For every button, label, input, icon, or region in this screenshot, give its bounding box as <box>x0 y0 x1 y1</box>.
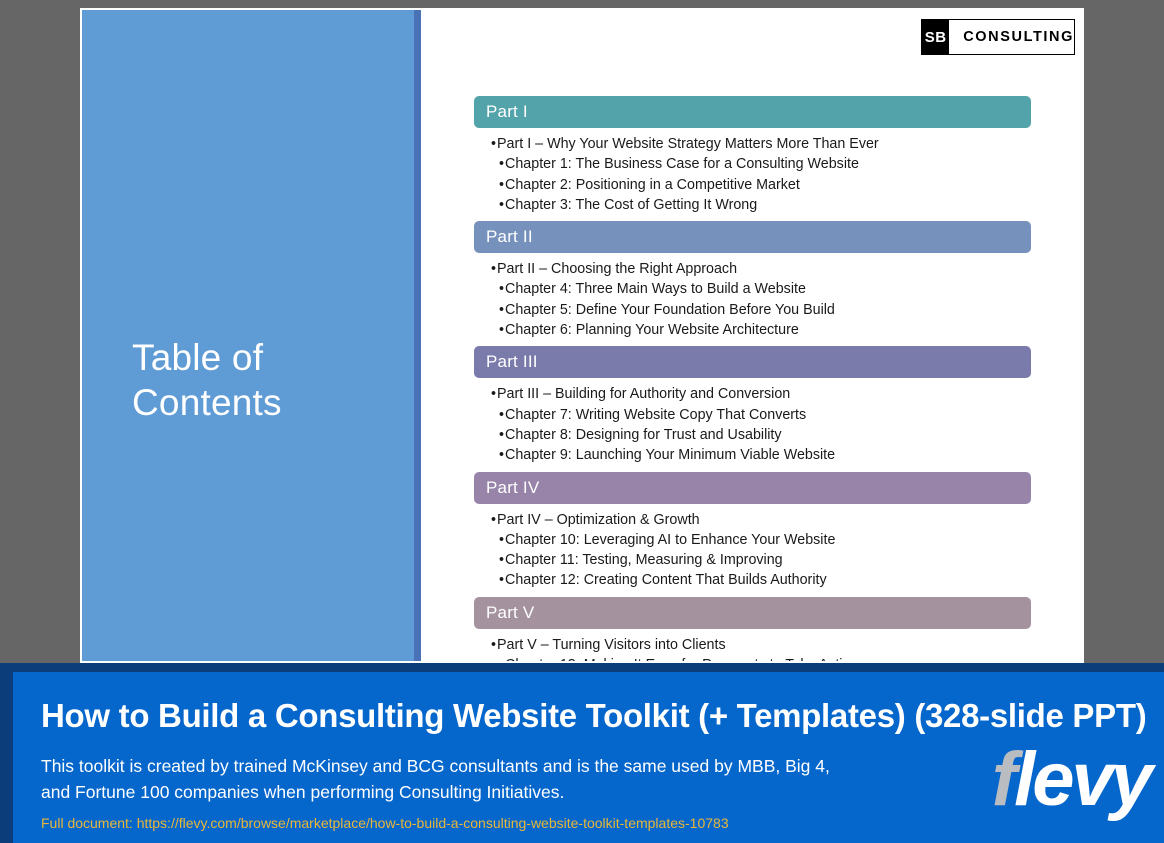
toc-part-header-label: Part IV <box>486 478 539 498</box>
bullet-icon: • <box>499 550 504 570</box>
toc-part-items: •Part V – Turning Visitors into Clients•… <box>474 629 1031 663</box>
flevy-promo-banner: How to Build a Consulting Website Toolki… <box>0 663 1164 843</box>
toc-entry[interactable]: •Chapter 2: Positioning in a Competitive… <box>474 175 1031 195</box>
toc-entry[interactable]: •Chapter 5: Define Your Foundation Befor… <box>474 300 1031 320</box>
toc-entry[interactable]: •Part IV – Optimization & Growth <box>474 510 1031 530</box>
toc-entry-label: Chapter 4: Three Main Ways to Build a We… <box>505 281 806 297</box>
toc-part-header-label: Part I <box>486 102 528 122</box>
toc-entry-label: Part I – Why Your Website Strategy Matte… <box>497 136 879 152</box>
bullet-icon: • <box>499 154 504 174</box>
toc-part-block: Part IV•Part IV – Optimization & Growth•… <box>474 472 1031 597</box>
banner-inner: How to Build a Consulting Website Toolki… <box>13 672 1164 843</box>
toc-entry[interactable]: •Chapter 9: Launching Your Minimum Viabl… <box>474 445 1031 465</box>
flevy-logo-f: f <box>992 737 1014 822</box>
toc-entry[interactable]: •Part III – Building for Authority and C… <box>474 384 1031 404</box>
bullet-icon: • <box>499 570 504 590</box>
toc-entry-label: Chapter 1: The Business Case for a Consu… <box>505 156 859 172</box>
toc-part-header[interactable]: Part I <box>474 96 1031 128</box>
toc-entry-label: Chapter 12: Creating Content That Builds… <box>505 572 827 588</box>
toc-entry[interactable]: •Part I – Why Your Website Strategy Matt… <box>474 134 1031 154</box>
bullet-icon: • <box>491 384 496 404</box>
toc-entry[interactable]: •Chapter 6: Planning Your Website Archit… <box>474 320 1031 340</box>
toc-part-block: Part V•Part V – Turning Visitors into Cl… <box>474 597 1031 663</box>
slide-canvas: Table of Contents SB CONSULTING Part I•P… <box>80 8 1084 663</box>
toc-part-header[interactable]: Part III <box>474 346 1031 378</box>
toc-part-header-label: Part II <box>486 227 533 247</box>
bullet-icon: • <box>499 279 504 299</box>
page-title: Table of Contents <box>132 335 402 425</box>
bullet-icon: • <box>499 655 504 663</box>
toc-part-header[interactable]: Part II <box>474 221 1031 253</box>
toc-entry-label: Part V – Turning Visitors into Clients <box>497 637 726 653</box>
toc-entry-label: Chapter 8: Designing for Trust and Usabi… <box>505 427 782 443</box>
toc-entry-label: Chapter 7: Writing Website Copy That Con… <box>505 407 806 423</box>
toc-entry-label: Part IV – Optimization & Growth <box>497 512 700 528</box>
title-panel-edge <box>414 10 421 663</box>
flevy-logo-rest: levy <box>1014 737 1150 822</box>
flevy-logo: flevy <box>992 740 1150 820</box>
toc-entry[interactable]: •Chapter 4: Three Main Ways to Build a W… <box>474 279 1031 299</box>
bullet-icon: • <box>491 635 496 655</box>
toc-entry[interactable]: •Chapter 13: Making It Easy for Prospect… <box>474 655 1031 663</box>
logo-wordmark: CONSULTING <box>963 29 1074 45</box>
bullet-icon: • <box>499 300 504 320</box>
toc-entry-label: Part III – Building for Authority and Co… <box>497 386 790 402</box>
toc-part-block: Part III•Part III – Building for Authori… <box>474 346 1031 471</box>
bullet-icon: • <box>499 175 504 195</box>
toc-entry-label: Chapter 3: The Cost of Getting It Wrong <box>505 197 757 213</box>
toc-entry[interactable]: •Chapter 10: Leveraging AI to Enhance Yo… <box>474 530 1031 550</box>
toc-entry-label: Chapter 10: Leveraging AI to Enhance You… <box>505 532 835 548</box>
toc-part-items: •Part I – Why Your Website Strategy Matt… <box>474 128 1031 221</box>
toc-part-block: Part I•Part I – Why Your Website Strateg… <box>474 96 1031 221</box>
bullet-icon: • <box>499 425 504 445</box>
logo-mark: SB <box>922 20 949 54</box>
bullet-icon: • <box>491 510 496 530</box>
toc-part-items: •Part IV – Optimization & Growth•Chapter… <box>474 504 1031 597</box>
bullet-icon: • <box>491 259 496 279</box>
bullet-icon: • <box>499 530 504 550</box>
banner-document-link[interactable]: Full document: https://flevy.com/browse/… <box>41 815 729 831</box>
toc-entry[interactable]: •Chapter 12: Creating Content That Build… <box>474 570 1031 590</box>
toc-part-header-label: Part V <box>486 603 534 623</box>
toc-entry-label: Chapter 9: Launching Your Minimum Viable… <box>505 447 835 463</box>
bullet-icon: • <box>499 195 504 215</box>
toc-entry[interactable]: •Chapter 11: Testing, Measuring & Improv… <box>474 550 1031 570</box>
banner-title: How to Build a Consulting Website Toolki… <box>41 697 1146 735</box>
toc-entry-label: Chapter 5: Define Your Foundation Before… <box>505 302 835 318</box>
toc-entry-label: Chapter 6: Planning Your Website Archite… <box>505 322 799 338</box>
toc-part-block: Part II•Part II – Choosing the Right App… <box>474 221 1031 346</box>
toc-entry-label: Chapter 11: Testing, Measuring & Improvi… <box>505 552 783 568</box>
bullet-icon: • <box>499 405 504 425</box>
toc-entry[interactable]: •Chapter 3: The Cost of Getting It Wrong <box>474 195 1031 215</box>
bullet-icon: • <box>491 134 496 154</box>
toc-part-items: •Part II – Choosing the Right Approach•C… <box>474 253 1031 346</box>
toc-part-header[interactable]: Part IV <box>474 472 1031 504</box>
toc-entry-label: Part II – Choosing the Right Approach <box>497 261 737 277</box>
toc-entry[interactable]: •Chapter 8: Designing for Trust and Usab… <box>474 425 1031 445</box>
toc-entry[interactable]: •Part II – Choosing the Right Approach <box>474 259 1031 279</box>
banner-subtitle: This toolkit is created by trained McKin… <box>41 753 841 805</box>
toc-part-header[interactable]: Part V <box>474 597 1031 629</box>
toc-list: Part I•Part I – Why Your Website Strateg… <box>474 96 1031 663</box>
toc-entry-label: Chapter 2: Positioning in a Competitive … <box>505 177 800 193</box>
toc-part-header-label: Part III <box>486 352 538 372</box>
toc-entry[interactable]: •Chapter 1: The Business Case for a Cons… <box>474 154 1031 174</box>
bullet-icon: • <box>499 445 504 465</box>
bullet-icon: • <box>499 320 504 340</box>
toc-part-items: •Part III – Building for Authority and C… <box>474 378 1031 471</box>
sb-consulting-logo: SB CONSULTING <box>921 19 1075 55</box>
toc-entry[interactable]: •Part V – Turning Visitors into Clients <box>474 635 1031 655</box>
toc-entry[interactable]: •Chapter 7: Writing Website Copy That Co… <box>474 405 1031 425</box>
